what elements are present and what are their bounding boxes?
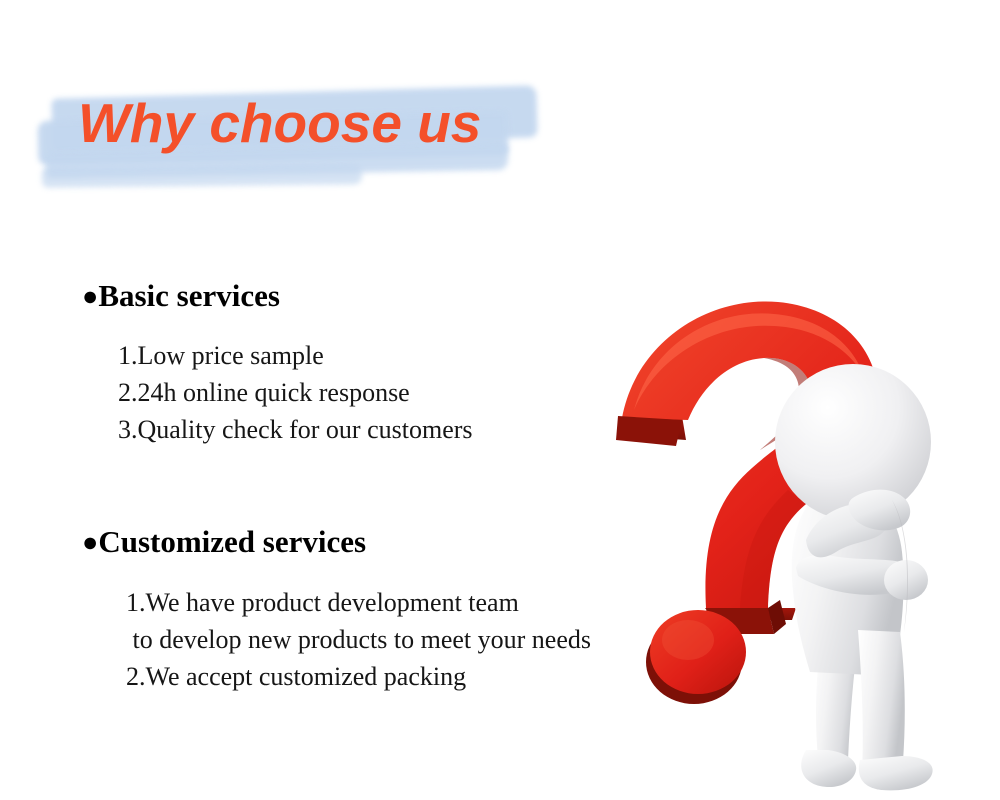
question-mark-with-thinking-figure-illustration — [610, 290, 1000, 800]
highlight-brush-stroke-tail — [42, 164, 362, 187]
bullet-dot-icon: ● — [82, 527, 98, 557]
thinking-figure — [775, 364, 933, 790]
section-basic-services: ●Basic services 1.Low price sample 2.24h… — [82, 278, 473, 448]
page-title: Why choose us — [78, 93, 481, 154]
title-block: Why choose us — [0, 70, 600, 220]
question-mark-dot — [646, 610, 746, 704]
list-item: 2.We accept customized packing — [126, 658, 591, 695]
basic-services-list: 1.Low price sample 2.24h online quick re… — [118, 337, 473, 448]
list-item: 2.24h online quick response — [118, 374, 473, 411]
section-heading-label: Basic services — [98, 278, 280, 313]
bullet-dot-icon: ● — [82, 281, 98, 311]
slide-canvas: Why choose us ●Basic services 1.Low pric… — [0, 0, 1000, 800]
list-item: 3.Quality check for our customers — [118, 411, 473, 448]
list-item: 1.Low price sample — [118, 337, 473, 374]
list-item: 1.We have product development team — [126, 584, 591, 621]
section-heading: ●Customized services — [82, 524, 591, 561]
list-item: to develop new products to meet your nee… — [126, 621, 591, 658]
customized-services-list: 1.We have product development team to de… — [126, 584, 591, 695]
section-heading: ●Basic services — [82, 278, 473, 315]
section-heading-label: Customized services — [98, 524, 366, 559]
section-customized-services: ●Customized services 1.We have product d… — [82, 524, 591, 695]
